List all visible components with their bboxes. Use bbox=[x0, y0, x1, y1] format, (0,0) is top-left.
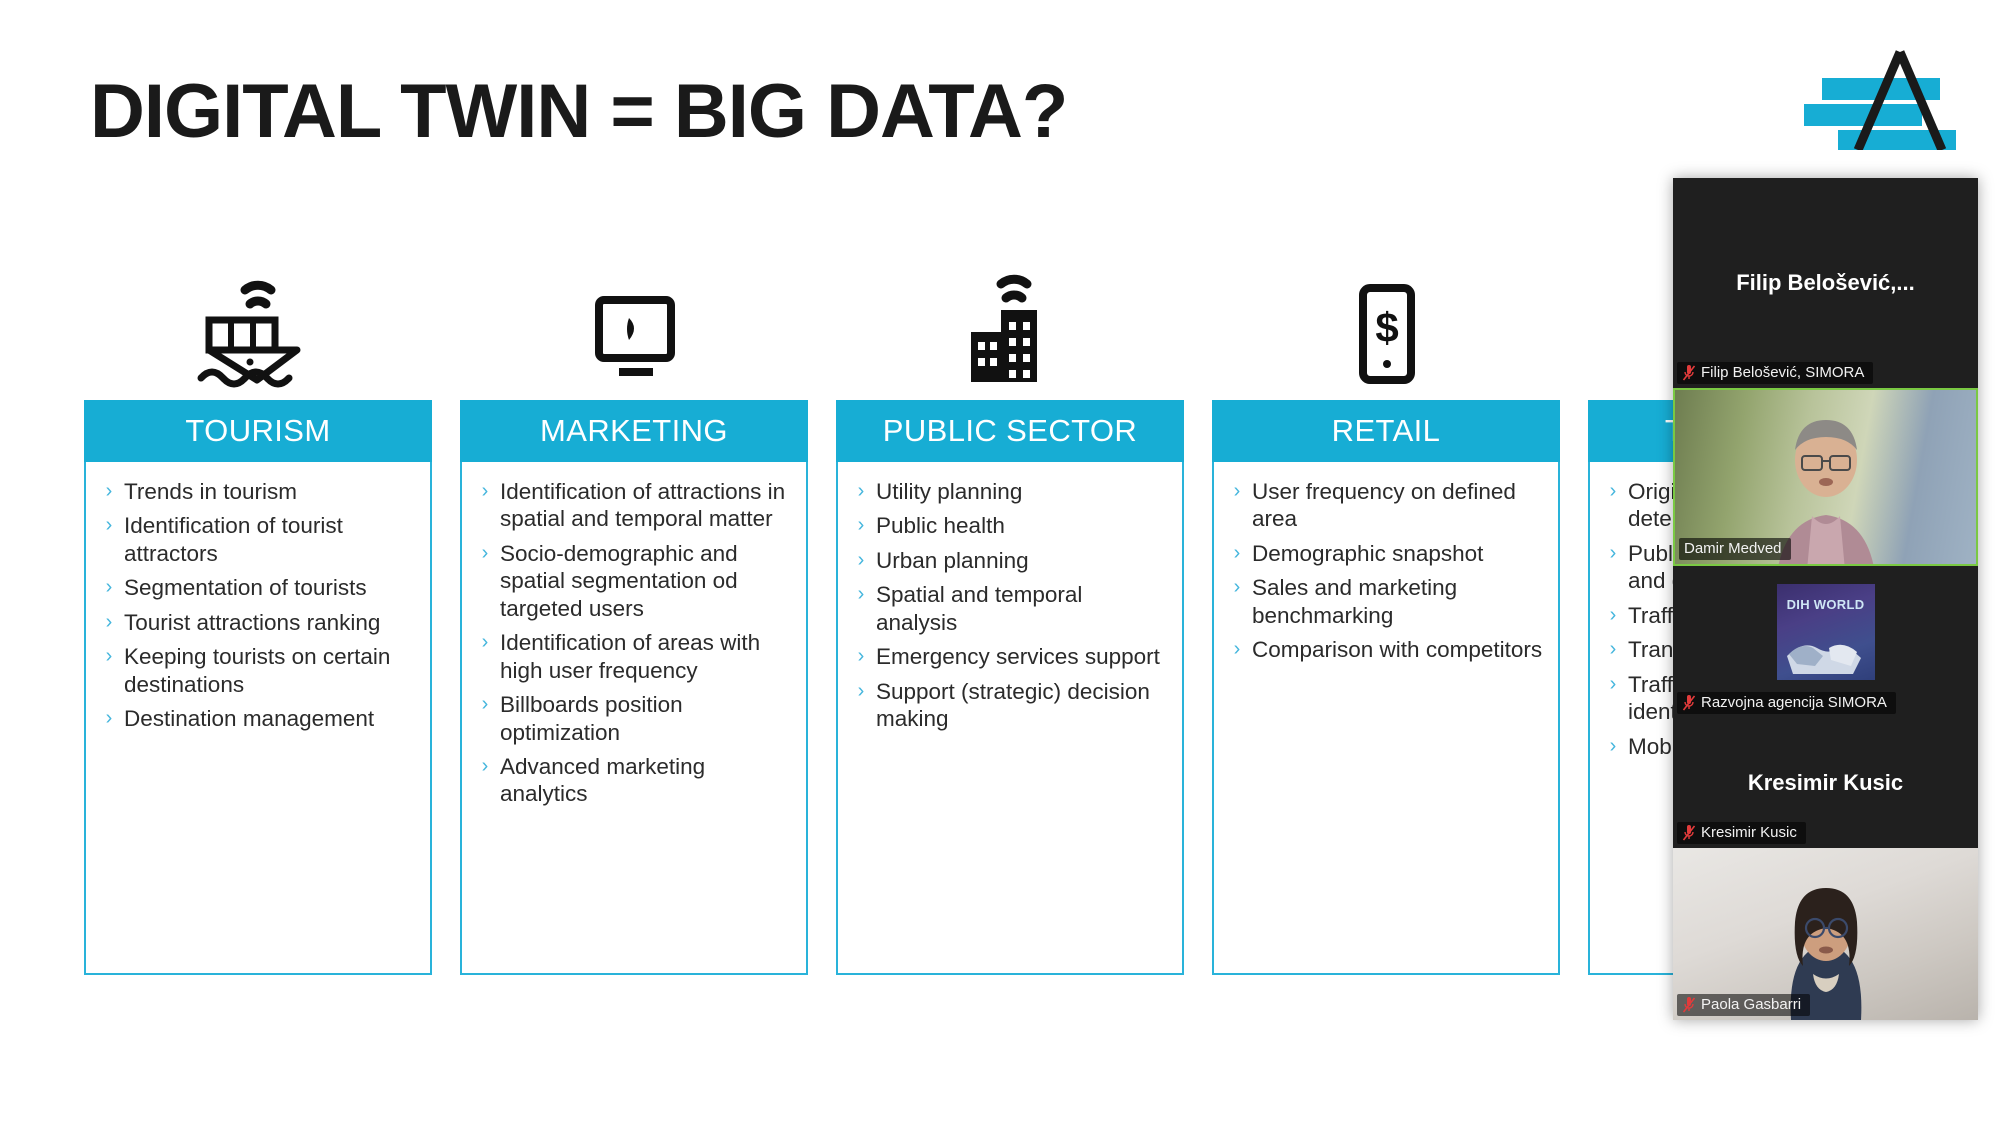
chevron-right-icon: › bbox=[848, 547, 874, 573]
list-item: ›Emergency services support bbox=[848, 643, 1168, 670]
chevron-right-icon: › bbox=[96, 574, 122, 600]
list-item: ›Sales and marketing benchmarking bbox=[1224, 574, 1544, 629]
zoom-tile-filip[interactable]: Filip Belošević,... Filip Belošević, SIM… bbox=[1673, 178, 1978, 388]
list-item: ›Spatial and temporal analysis bbox=[848, 581, 1168, 636]
handshake-illustration bbox=[1777, 584, 1875, 680]
zoom-participant-name: Kresimir Kusic bbox=[1701, 824, 1797, 841]
zoom-participant-name: Razvojna agencija SIMORA bbox=[1701, 694, 1887, 711]
chevron-right-icon: › bbox=[472, 478, 498, 504]
column-header-public-sector: PUBLIC SECTOR bbox=[836, 400, 1184, 462]
chevron-right-icon: › bbox=[1224, 574, 1250, 600]
chevron-right-icon: › bbox=[96, 609, 122, 635]
list-item: ›Segmentation of tourists bbox=[96, 574, 416, 601]
chevron-right-icon: › bbox=[96, 705, 122, 731]
microphone-muted-icon bbox=[1682, 997, 1696, 1013]
page-title: DIGITAL TWIN = BIG DATA? bbox=[90, 68, 1067, 155]
chevron-right-icon: › bbox=[472, 540, 498, 566]
chevron-right-icon: › bbox=[1600, 733, 1626, 759]
chevron-right-icon: › bbox=[1600, 602, 1626, 628]
chevron-right-icon: › bbox=[848, 512, 874, 538]
column-tourism: TOURISM ›Trends in tourism ›Identificati… bbox=[84, 255, 432, 975]
zoom-participant-name: Filip Belošević, SIMORA bbox=[1701, 364, 1864, 381]
chevron-right-icon: › bbox=[472, 629, 498, 655]
column-header-retail: RETAIL bbox=[1212, 400, 1560, 462]
zoom-tile-display-name: Kresimir Kusic bbox=[1738, 770, 1913, 796]
zoom-name-badge: Paola Gasbarri bbox=[1677, 994, 1810, 1016]
list-item: ›Identification of tourist attractors bbox=[96, 512, 416, 567]
list-item: ›Demographic snapshot bbox=[1224, 540, 1544, 567]
ship-connected-icon bbox=[84, 255, 432, 400]
list-item: ›Tourist attractions ranking bbox=[96, 609, 416, 636]
presentation-slide: DIGITAL TWIN = BIG DATA? bbox=[0, 0, 2000, 1125]
svg-text:$: $ bbox=[1375, 304, 1398, 351]
list-item: ›Billboards position optimization bbox=[472, 691, 792, 746]
chevron-right-icon: › bbox=[1600, 671, 1626, 697]
chevron-right-icon: › bbox=[96, 643, 122, 669]
list-item: ›Identification of attractions in spatia… bbox=[472, 478, 792, 533]
zoom-name-badge: Damir Medved bbox=[1679, 538, 1791, 560]
list-item: ›Support (strategic) decision making bbox=[848, 678, 1168, 733]
list-item: ›Identification of areas with high user … bbox=[472, 629, 792, 684]
dih-world-avatar: DIH WORLD bbox=[1777, 584, 1875, 680]
column-header-marketing: MARKETING bbox=[460, 400, 808, 462]
list-item: ›User frequency on defined area bbox=[1224, 478, 1544, 533]
column-body-marketing: ›Identification of attractions in spatia… bbox=[460, 462, 808, 975]
column-header-tourism: TOURISM bbox=[84, 400, 432, 462]
microphone-muted-icon bbox=[1682, 695, 1696, 711]
chevron-right-icon: › bbox=[472, 753, 498, 779]
chevron-right-icon: › bbox=[1600, 478, 1626, 504]
microphone-muted-icon bbox=[1682, 825, 1696, 841]
list-item: ›Keeping tourists on certain destination… bbox=[96, 643, 416, 698]
list-item: ›Utility planning bbox=[848, 478, 1168, 505]
list-item: ›Trends in tourism bbox=[96, 478, 416, 505]
zoom-tile-damir[interactable]: Damir Medved bbox=[1673, 388, 1978, 566]
list-item: ›Socio-demographic and spatial segmentat… bbox=[472, 540, 792, 622]
zoom-tile-kresimir[interactable]: Kresimir Kusic Kresimir Kusic bbox=[1673, 718, 1978, 848]
column-marketing: MARKETING ›Identification of attractions… bbox=[460, 255, 808, 975]
company-logo bbox=[1792, 38, 1982, 150]
chevron-right-icon: › bbox=[96, 478, 122, 504]
zoom-participant-name: Paola Gasbarri bbox=[1701, 996, 1801, 1013]
zoom-tile-display-name: Filip Belošević,... bbox=[1726, 270, 1925, 296]
column-body-public-sector: ›Utility planning ›Public health ›Urban … bbox=[836, 462, 1184, 975]
chevron-right-icon: › bbox=[848, 678, 874, 704]
zoom-tile-paola[interactable]: Paola Gasbarri bbox=[1673, 848, 1978, 1020]
list-item: ›Public health bbox=[848, 512, 1168, 539]
list-item: ›Urban planning bbox=[848, 547, 1168, 574]
zoom-participants-panel[interactable]: Filip Belošević,... Filip Belošević, SIM… bbox=[1673, 178, 1978, 1020]
zoom-tile-simora[interactable]: DIH WORLD Razvojna agencija SIMORA bbox=[1673, 566, 1978, 718]
chevron-right-icon: › bbox=[848, 478, 874, 504]
chevron-right-icon: › bbox=[848, 643, 874, 669]
zoom-name-badge: Kresimir Kusic bbox=[1677, 822, 1806, 844]
zoom-participant-name: Damir Medved bbox=[1684, 540, 1782, 557]
zoom-name-badge: Razvojna agencija SIMORA bbox=[1677, 692, 1896, 714]
microphone-muted-icon bbox=[1682, 365, 1696, 381]
chevron-right-icon: › bbox=[1224, 540, 1250, 566]
list-item: ›Destination management bbox=[96, 705, 416, 732]
list-item: ›Comparison with competitors bbox=[1224, 636, 1544, 663]
mobile-dollar-icon: $ bbox=[1212, 255, 1560, 400]
chevron-right-icon: › bbox=[472, 691, 498, 717]
chevron-right-icon: › bbox=[1224, 478, 1250, 504]
column-body-retail: ›User frequency on defined area ›Demogra… bbox=[1212, 462, 1560, 975]
monitor-play-icon bbox=[460, 255, 808, 400]
column-retail: $ RETAIL ›User frequency on defined area… bbox=[1212, 255, 1560, 975]
sector-columns: TOURISM ›Trends in tourism ›Identificati… bbox=[84, 255, 1924, 975]
chevron-right-icon: › bbox=[1224, 636, 1250, 662]
chevron-right-icon: › bbox=[1600, 636, 1626, 662]
zoom-name-badge: Filip Belošević, SIMORA bbox=[1677, 362, 1873, 384]
chevron-right-icon: › bbox=[848, 581, 874, 607]
smart-city-buildings-icon bbox=[836, 255, 1184, 400]
chevron-right-icon: › bbox=[96, 512, 122, 538]
column-body-tourism: ›Trends in tourism ›Identification of to… bbox=[84, 462, 432, 975]
chevron-right-icon: › bbox=[1600, 540, 1626, 566]
list-item: ›Advanced marketing analytics bbox=[472, 753, 792, 808]
column-public-sector: PUBLIC SECTOR ›Utility planning ›Public … bbox=[836, 255, 1184, 975]
